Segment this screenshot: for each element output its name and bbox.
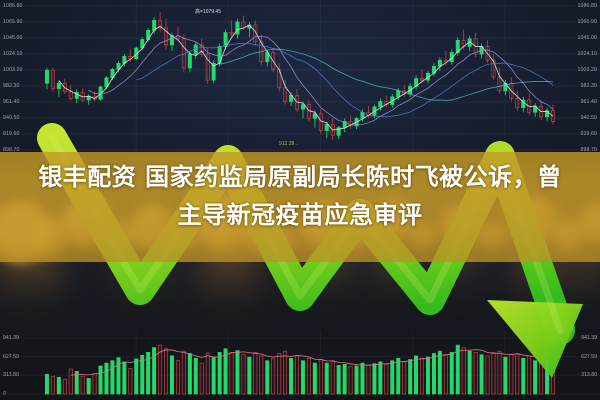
headline-text-block: 银丰配资 国家药监局原副局长陈时飞被公诉，曾 主导新冠疫苗应急审评 (0, 158, 600, 234)
stock-chart-banner: 1086.801065.901045.001024.101003.20982.3… (0, 0, 600, 400)
headline-line-1: 银丰配资 国家药监局原副局长陈时飞被公诉，曾 (0, 158, 600, 196)
headline-line-2: 主导新冠疫苗应急审评 (0, 196, 600, 234)
